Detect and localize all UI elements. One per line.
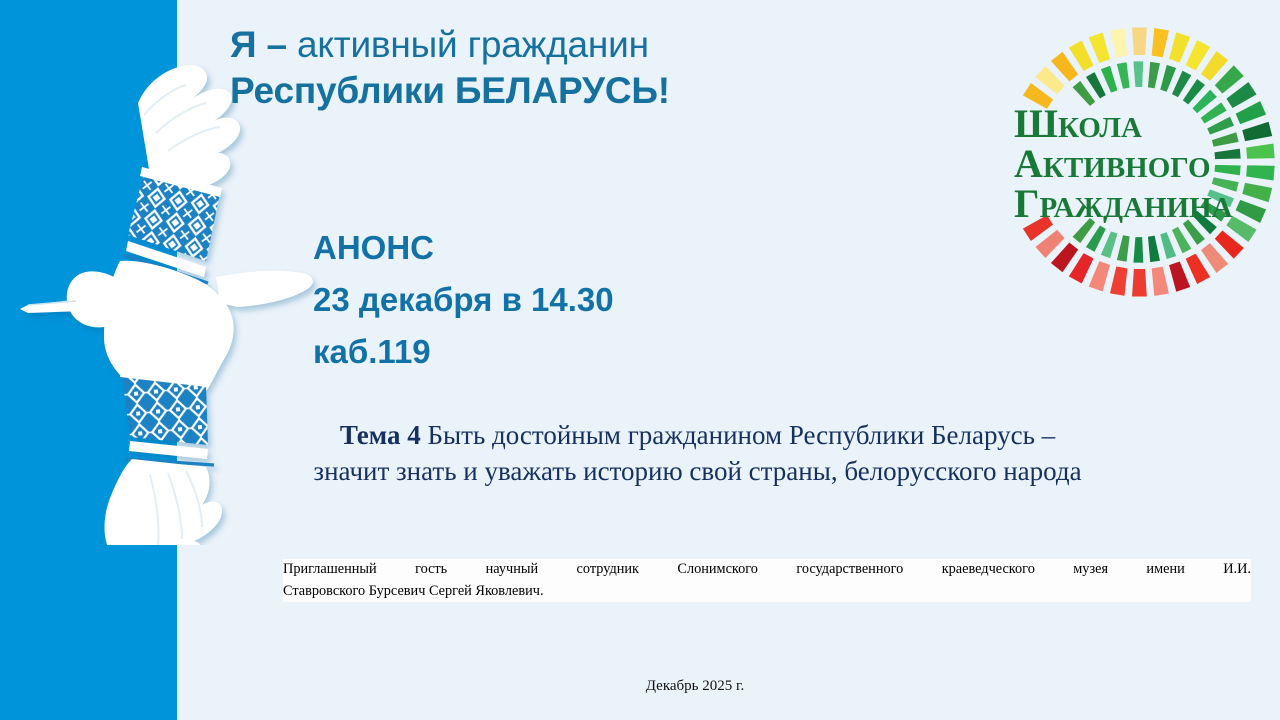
logo-cap-2: А <box>1014 141 1043 186</box>
logo-tile-outer-5 <box>1108 27 1128 59</box>
logo-tile-outer-7 <box>1150 27 1170 59</box>
theme-label: Тема 4 <box>340 420 421 450</box>
footer-date: Декабрь 2025 г. <box>0 678 1280 695</box>
slide-canvas: Я – активный гражданин Республики БЕЛАРУ… <box>0 0 1280 720</box>
logo-rest-3: РАЖДАНИНА <box>1039 192 1232 224</box>
guest-note-line-2: Ставровского Бурсевич Сергей Яковлевич. <box>283 581 544 603</box>
logo-tile-outer-24 <box>1150 265 1170 297</box>
announcement-label: АНОНС <box>313 222 614 274</box>
logo-tile-inner-4 <box>1132 60 1144 88</box>
logo-tile-outer-16 <box>1245 164 1276 182</box>
guest-note: Приглашенный гость научный сотрудник Сло… <box>283 559 1251 602</box>
headline-line-2: Республики БЕЛАРУСЬ! <box>230 68 990 114</box>
announcement-block: АНОНС 23 декабря в 14.30 каб.119 <box>313 222 614 377</box>
announcement-datetime: 23 декабря в 14.30 <box>313 274 614 326</box>
logo-rest-2: КТИВНОГО <box>1043 152 1211 184</box>
logo-tile-outer-6 <box>1131 26 1148 56</box>
theme-line-2: значит знать и уважать историю свой стра… <box>200 454 1195 490</box>
logo-cap-3: Г <box>1014 181 1039 226</box>
theme-line-1: Тема 4 Быть достойным гражданином Респуб… <box>200 418 1195 454</box>
logo-rest-1: КОЛА <box>1058 112 1142 144</box>
announcement-room: каб.119 <box>313 326 614 378</box>
logo-tile-outer-26 <box>1108 265 1128 297</box>
logo-cap-1: Ш <box>1014 101 1058 146</box>
theme-line-1-text: Быть достойным гражданином Республики Бе… <box>421 420 1055 450</box>
headline-line-1: Я – активный гражданин <box>230 22 990 68</box>
logo-line-shkola: ШКОЛА <box>1014 104 1224 144</box>
headline-line-1-bold: Я – <box>230 24 297 65</box>
theme-text: Тема 4 Быть достойным гражданином Респуб… <box>200 418 1195 489</box>
headline-line-1-regular: активный гражданин <box>297 24 649 65</box>
slide-headline: Я – активный гражданин Республики БЕЛАРУ… <box>230 22 990 114</box>
logo-tile-inner-23 <box>1132 236 1144 264</box>
logo-line-aktivnogo: АКТИВНОГО <box>1014 144 1224 184</box>
guest-note-line-1: Приглашенный гость научный сотрудник Сло… <box>283 559 1251 581</box>
footer-date-text: Декабрь 2025 г. <box>646 678 744 695</box>
logo-tile-outer-25 <box>1131 268 1148 298</box>
school-logo-wordmark: ШКОЛА АКТИВНОГО ГРАЖДАНИНА <box>1014 104 1224 224</box>
guest-note-body: Приглашенный гость научный сотрудник Сло… <box>283 559 1251 602</box>
logo-line-grazhdanina: ГРАЖДАНИНА <box>1014 184 1224 224</box>
logo-tile-outer-15 <box>1245 142 1276 160</box>
